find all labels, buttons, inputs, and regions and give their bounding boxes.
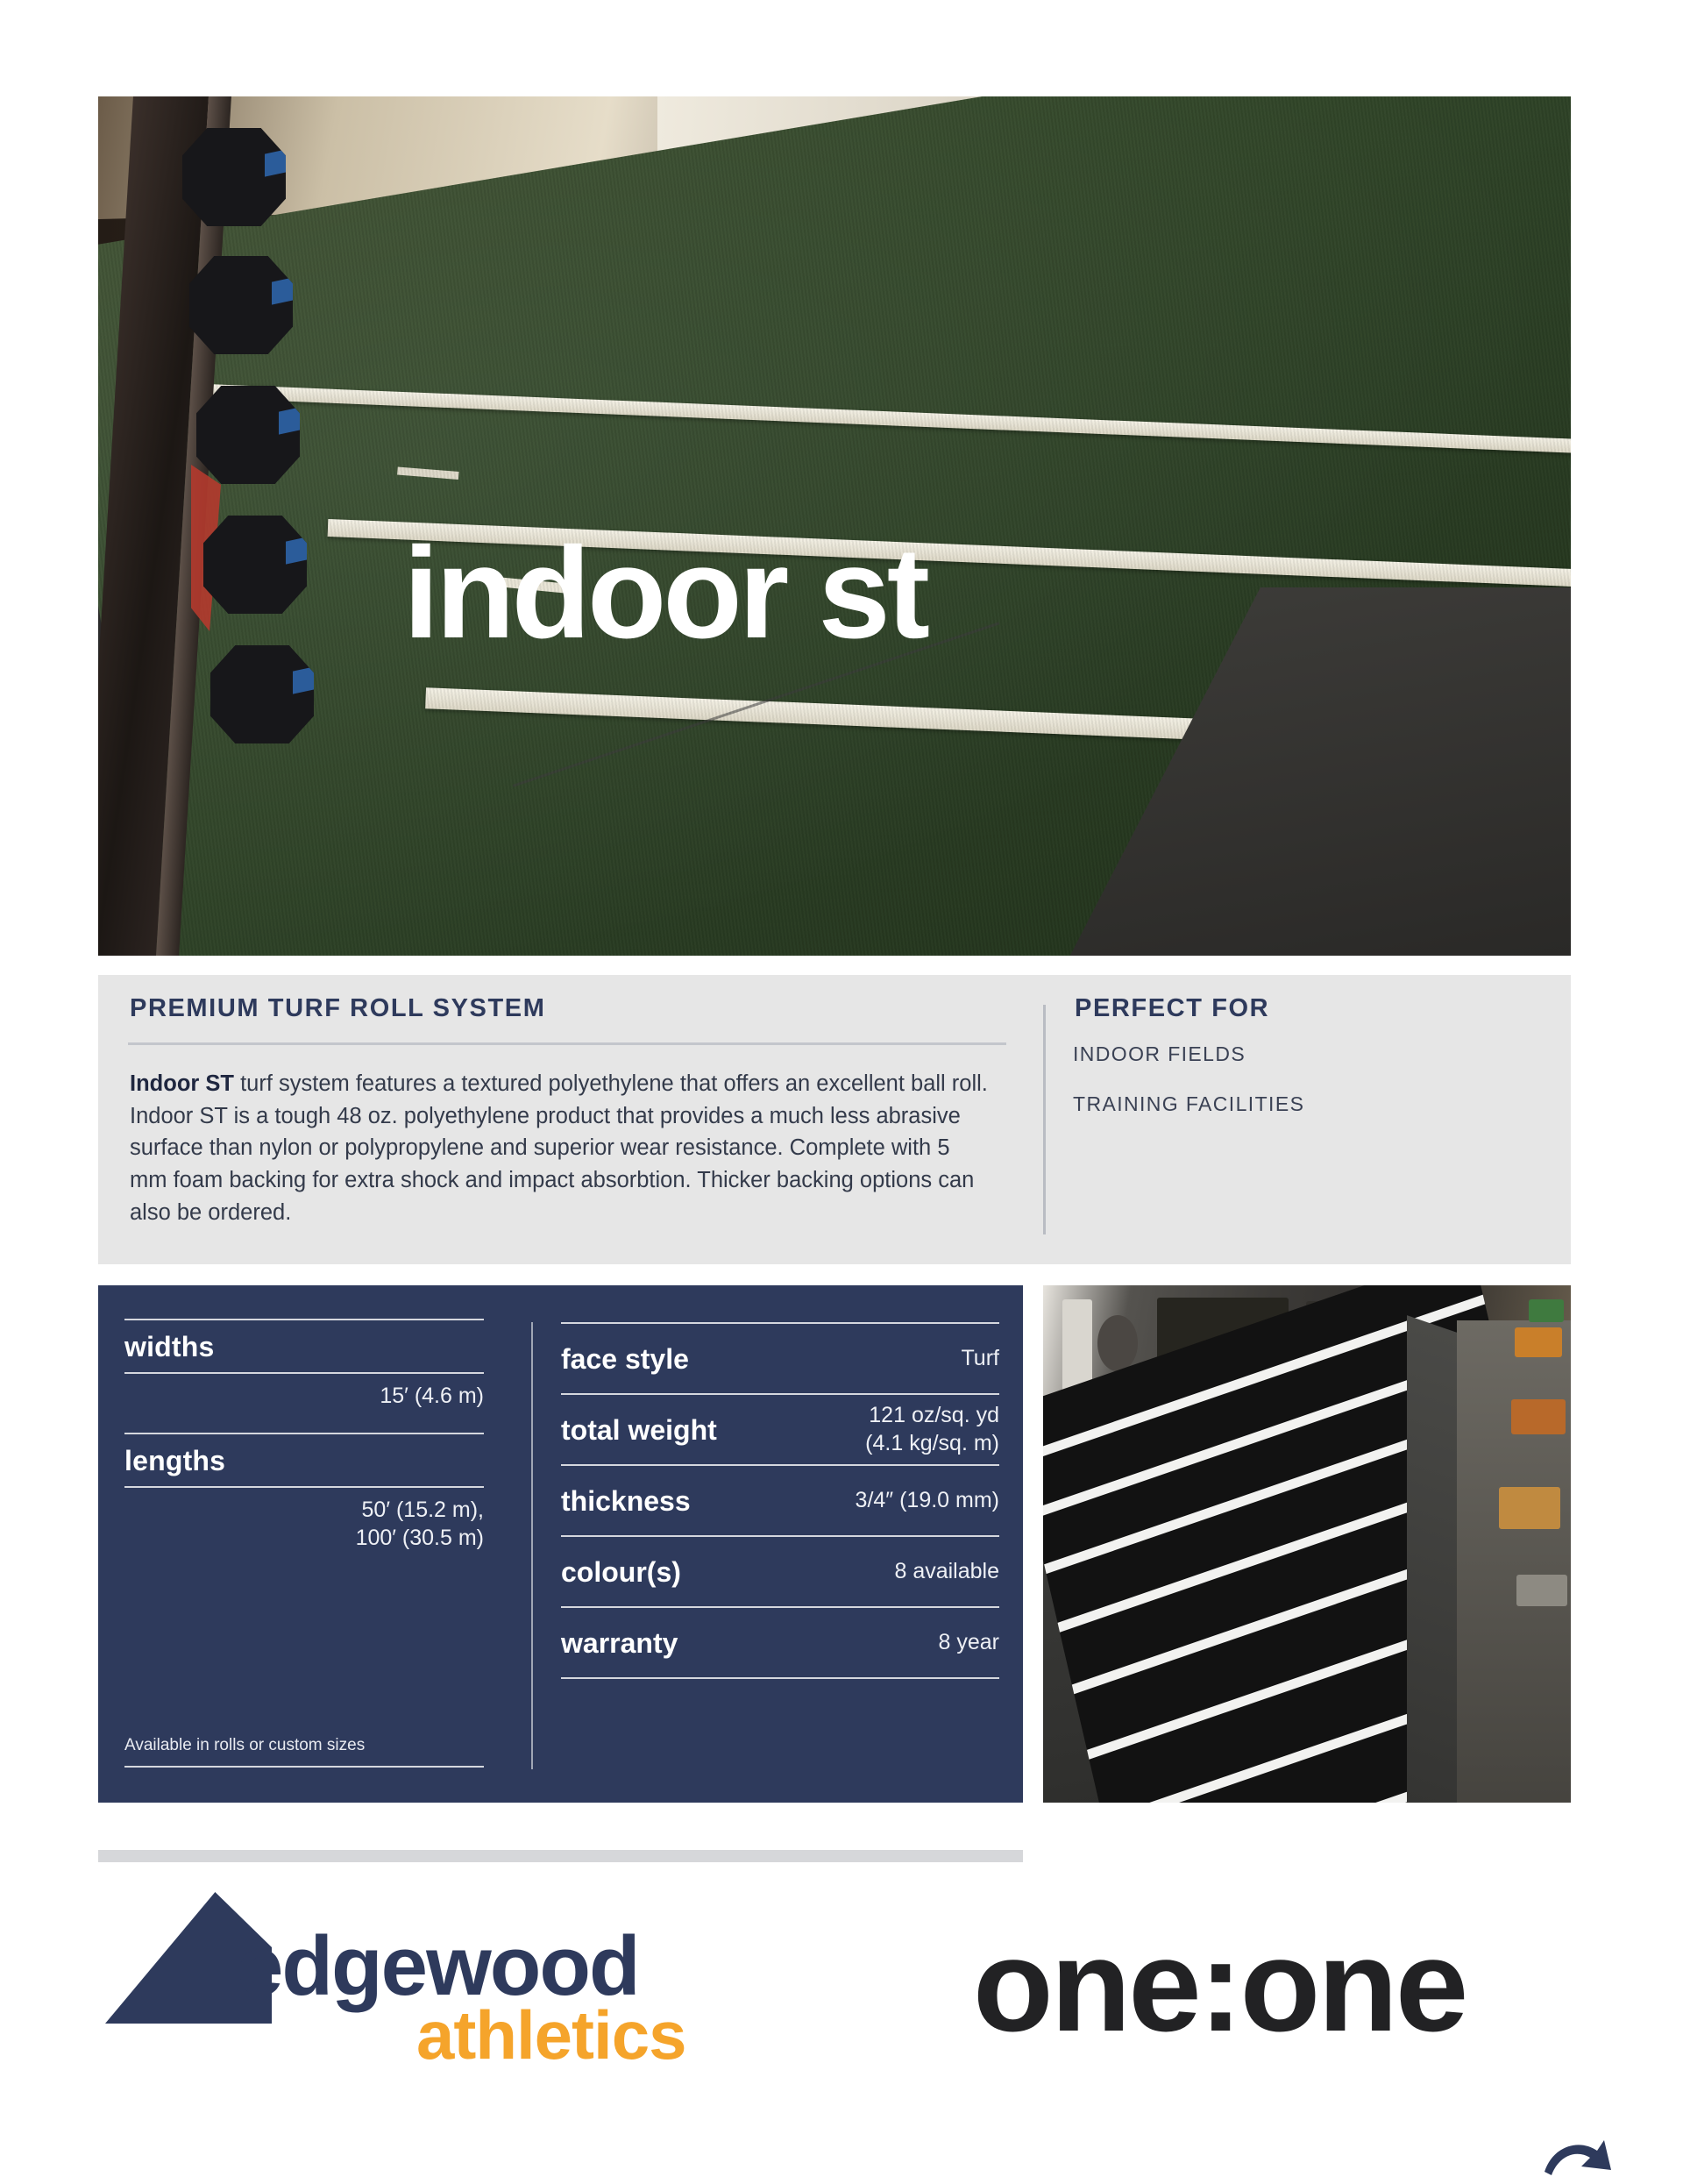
gym-equipment (1516, 1575, 1567, 1606)
attributes-column: face style Turf total weight 121 oz/sq. … (561, 1285, 999, 1803)
spec-value: 15′ (4.6 m) (124, 1374, 484, 1411)
next-page-arrow-icon (1541, 2131, 1615, 2184)
spec-label: total weight (561, 1395, 717, 1464)
description-text: Indoor ST turf system features a texture… (130, 1068, 989, 1229)
turf-yard-line (201, 384, 1571, 464)
gym-bench (1511, 1399, 1566, 1434)
spec-row: colour(s) 8 available (561, 1535, 999, 1606)
specs-column-divider (531, 1322, 533, 1769)
one-to-one-logo: one:one (973, 1910, 1466, 2061)
perfect-for-heading: PERFECT FOR (1075, 994, 1534, 1023)
band-divider (1043, 1005, 1046, 1234)
dumbbell (210, 645, 314, 743)
spec-label: widths (124, 1320, 484, 1372)
attributes-list: face style Turf total weight 121 oz/sq. … (561, 1322, 999, 1679)
dumbbell (196, 386, 300, 484)
perfect-for-item: INDOOR FIELDS (1073, 1042, 1534, 1066)
product-title: indoor st (403, 535, 927, 651)
perfect-for-item: TRAINING FACILITIES (1073, 1092, 1534, 1116)
application-photo (1043, 1285, 1571, 1803)
spec-label: colour(s) (561, 1537, 681, 1606)
dumbbell (203, 516, 307, 614)
spec-value: 8 available (894, 1558, 999, 1586)
dumbbell (182, 128, 286, 226)
perfect-for-column: PERFECT FOR INDOOR FIELDS TRAINING FACIL… (1069, 994, 1534, 1142)
footer-rule (98, 1850, 1023, 1862)
description-lead: Indoor ST (130, 1071, 234, 1096)
spec-row: face style Turf (561, 1322, 999, 1393)
spec-group-lengths: lengths 50′ (15.2 m), 100′ (30.5 m) (124, 1433, 484, 1552)
description-body: turf system features a textured polyethy… (130, 1071, 988, 1225)
spec-row: warranty 8 year (561, 1606, 999, 1679)
edgewood-athletics-logo: edgewood athletics (105, 1885, 666, 2087)
info-band: PREMIUM TURF ROLL SYSTEM Indoor ST turf … (98, 975, 1571, 1264)
gym-bench (1515, 1327, 1562, 1357)
dumbbell (189, 256, 293, 354)
custom-sizes-note: Available in rolls or custom sizes (124, 1736, 484, 1768)
gym-bench (1499, 1487, 1560, 1529)
gym-right-area (1457, 1320, 1571, 1803)
spec-row: total weight 121 oz/sq. yd (4.1 kg/sq. m… (561, 1393, 999, 1464)
hero-banner: indoor st (98, 96, 1571, 956)
spec-value: Turf (961, 1345, 999, 1373)
spec-label: warranty (561, 1608, 678, 1677)
spec-value: 121 oz/sq. yd (4.1 kg/sq. m) (865, 1402, 999, 1457)
description-heading: PREMIUM TURF ROLL SYSTEM (130, 994, 1010, 1023)
turf-tick-mark (396, 467, 458, 480)
spec-label: thickness (561, 1466, 691, 1535)
weight-plate (1097, 1315, 1138, 1371)
spec-label: face style (561, 1324, 689, 1393)
specifications-panel: widths 15′ (4.6 m) lengths 50′ (15.2 m),… (98, 1285, 1023, 1803)
spec-value: 8 year (939, 1629, 999, 1657)
spec-value: 3/4″ (19.0 mm) (856, 1487, 999, 1515)
dimensions-column: widths 15′ (4.6 m) lengths 50′ (15.2 m),… (124, 1285, 510, 1803)
spec-label: lengths (124, 1434, 484, 1486)
spec-value: 50′ (15.2 m), 100′ (30.5 m) (124, 1488, 484, 1552)
gym-equipment (1529, 1299, 1564, 1322)
heading-rule (128, 1042, 1006, 1045)
dumbbell-rack (98, 96, 361, 956)
description-column: PREMIUM TURF ROLL SYSTEM Indoor ST turf … (124, 994, 1010, 1229)
brand-tagline: athletics (416, 1995, 685, 2075)
spec-group-widths: widths 15′ (4.6 m) (124, 1319, 484, 1411)
spec-row: thickness 3/4″ (19.0 mm) (561, 1464, 999, 1535)
